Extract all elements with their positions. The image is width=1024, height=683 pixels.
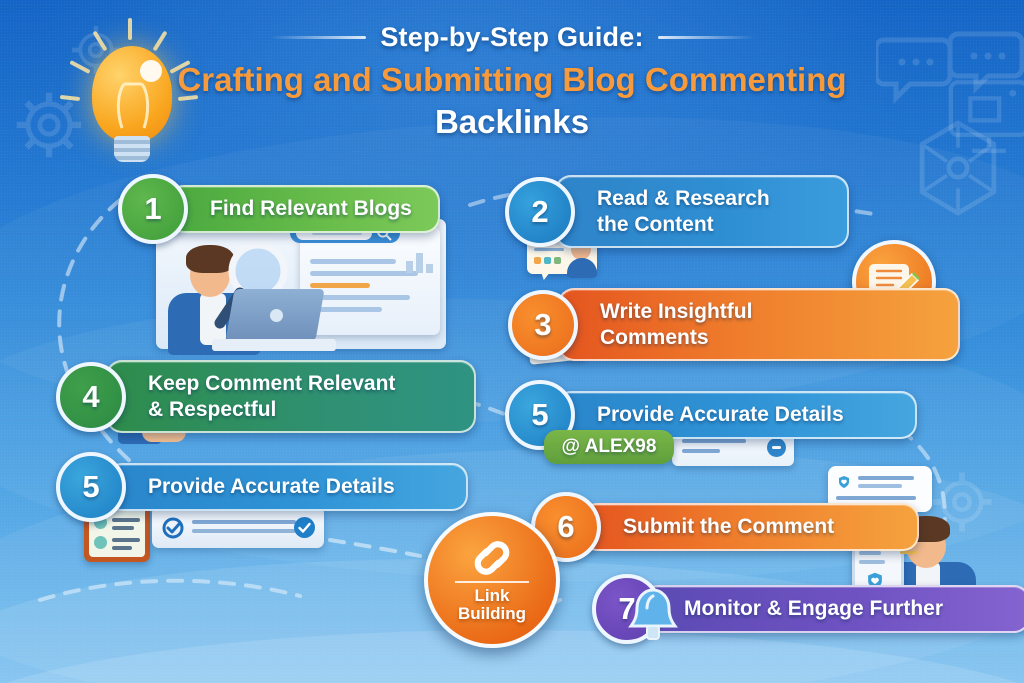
step-4-label-line2: & Respectful: [148, 397, 448, 423]
step-3-label: Write Insightful Comments: [558, 288, 960, 361]
step-2-label-line1: Read & Research: [597, 186, 821, 212]
header-title: Crafting and Submitting Blog Commenting …: [0, 59, 1024, 143]
minus-circle-icon: [767, 438, 786, 457]
step-2-number: 2: [505, 177, 575, 247]
title-rule-left: [270, 36, 366, 39]
step5-left-input: [152, 506, 324, 548]
header: Step-by-Step Guide: Crafting and Submitt…: [0, 22, 1024, 143]
step-3-label-line1: Write Insightful: [600, 299, 932, 325]
step-2-label: Read & Research the Content: [555, 175, 849, 248]
chain-link-icon: [464, 538, 520, 578]
step-1-label: Find Relevant Blogs: [168, 185, 440, 233]
bell-icon: [620, 584, 686, 646]
step-5-left-label: Provide Accurate Details: [106, 463, 468, 511]
link-building-line1: Link: [458, 587, 526, 605]
link-building-badge[interactable]: Link Building: [424, 512, 560, 648]
title-rule-right: [658, 36, 754, 39]
heart-badge-icon: [836, 474, 852, 490]
step-5-left-number: 5: [56, 452, 126, 522]
step-2-label-line2: the Content: [597, 212, 821, 238]
header-title-line1: Crafting and Submitting Blog Commenting: [177, 61, 846, 98]
step-4-number: 4: [56, 362, 126, 432]
step-4-label-line1: Keep Comment Relevant: [148, 371, 448, 397]
header-eyebrow: Step-by-Step Guide:: [380, 22, 643, 53]
step-3[interactable]: 3 Write Insightful Comments: [508, 288, 960, 361]
verified-check-icon: [294, 517, 315, 538]
step-4[interactable]: 4 Keep Comment Relevant & Respectful: [56, 360, 476, 433]
step-1[interactable]: 1 Find Relevant Blogs: [118, 174, 440, 244]
check-circle-icon: [162, 517, 184, 539]
username-chip: @ ALEX98: [544, 430, 674, 464]
link-building-line2: Building: [458, 605, 526, 623]
step-3-number: 3: [508, 290, 578, 360]
infographic-canvas: 1 Find Relevant Blogs 2 Read & Research …: [0, 0, 1024, 683]
header-title-line2: Backlinks: [0, 101, 1024, 143]
step-3-label-line2: Comments: [600, 325, 932, 351]
username-chip-label: @ ALEX98: [562, 436, 657, 458]
step-7-label: Monitor & Engage Further: [642, 585, 1024, 633]
step-2[interactable]: 2 Read & Research the Content: [505, 175, 849, 248]
step-6-label: Submit the Comment: [581, 503, 919, 551]
step-1-number: 1: [118, 174, 188, 244]
step-4-label: Keep Comment Relevant & Respectful: [106, 360, 476, 433]
